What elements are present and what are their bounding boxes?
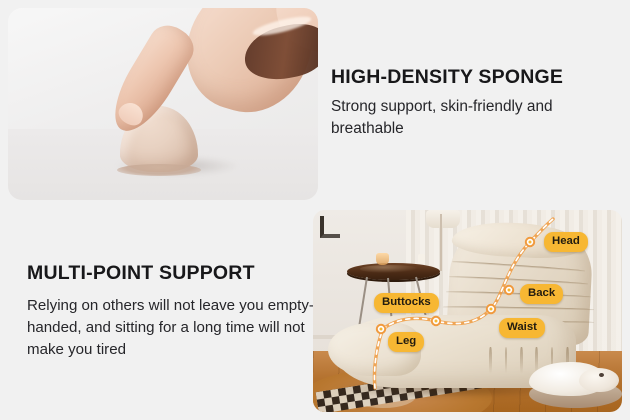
callout-badge-waist[interactable]: Waist [499,318,545,338]
feature-text-support: MULTI-POINT SUPPORT Relying on others wi… [27,262,315,361]
product-feature-page: HIGH-DENSITY SPONGE Strong support, skin… [0,0,630,420]
callout-node-dot [490,308,493,311]
callout-badge-buttocks[interactable]: Buttocks [374,293,439,313]
lounge-chair-photo: HeadBackWaistButtocksLeg [313,210,622,412]
callout-node-dot [435,320,438,323]
sponge-press-photo [8,8,318,200]
callout-node-dot [380,328,383,331]
feature-body-sponge: Strong support, skin-friendly and breath… [331,96,623,139]
feature-text-sponge: HIGH-DENSITY SPONGE Strong support, skin… [331,66,623,139]
pressing-hand [158,8,318,164]
feature-title-sponge: HIGH-DENSITY SPONGE [331,66,623,88]
callout-badge-back[interactable]: Back [520,284,563,304]
callout-badge-leg[interactable]: Leg [388,332,424,352]
feature-body-support: Relying on others will not leave you emp… [27,295,315,361]
feature-title-support: MULTI-POINT SUPPORT [27,262,315,284]
callout-node-dot [508,289,511,292]
callout-node-dot [529,241,532,244]
callout-badge-head[interactable]: Head [544,232,588,252]
